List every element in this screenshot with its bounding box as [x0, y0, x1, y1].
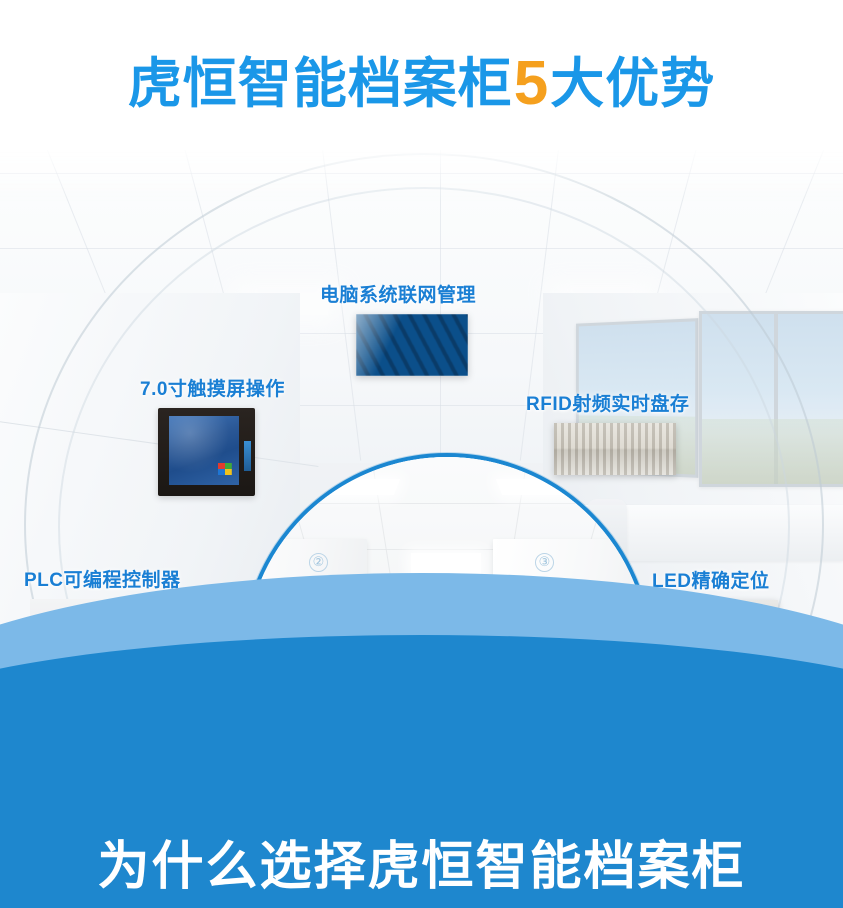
feature-thumbnail-touch-panel: [158, 408, 255, 496]
feature-rfid[interactable]: RFID射频实时盘存: [526, 389, 689, 475]
cabinet-number: ③: [535, 553, 554, 572]
bottom-banner: 为什么选择虎恒智能档案柜: [0, 693, 843, 908]
page-title: 虎恒智能档案柜5大优势: [128, 53, 715, 115]
page-title-number: 5: [513, 49, 550, 118]
page-title-suffix: 大优势: [550, 54, 715, 114]
feature-thumbnail-rfid: [554, 423, 676, 475]
feature-label: 电脑系统联网管理: [320, 280, 476, 307]
bottom-banner-title: 为什么选择虎恒智能档案柜: [0, 838, 843, 898]
feature-touchscreen[interactable]: 7.0寸触摸屏操作: [140, 374, 285, 496]
feature-computer-system[interactable]: 电脑系统联网管理: [320, 280, 476, 376]
feature-label: PLC可编程控制器: [24, 565, 181, 592]
cabinet-number: ②: [309, 553, 328, 572]
feature-thumbnail-keyboard: [356, 314, 468, 376]
page-header: 虎恒智能档案柜5大优势: [0, 0, 843, 150]
promo-page: ② ③ 电脑系统联网管理: [0, 0, 843, 908]
feature-label: RFID射频实时盘存: [526, 389, 689, 416]
feature-label: 7.0寸触摸屏操作: [140, 374, 285, 401]
page-title-prefix: 虎恒智能档案柜: [128, 54, 513, 114]
